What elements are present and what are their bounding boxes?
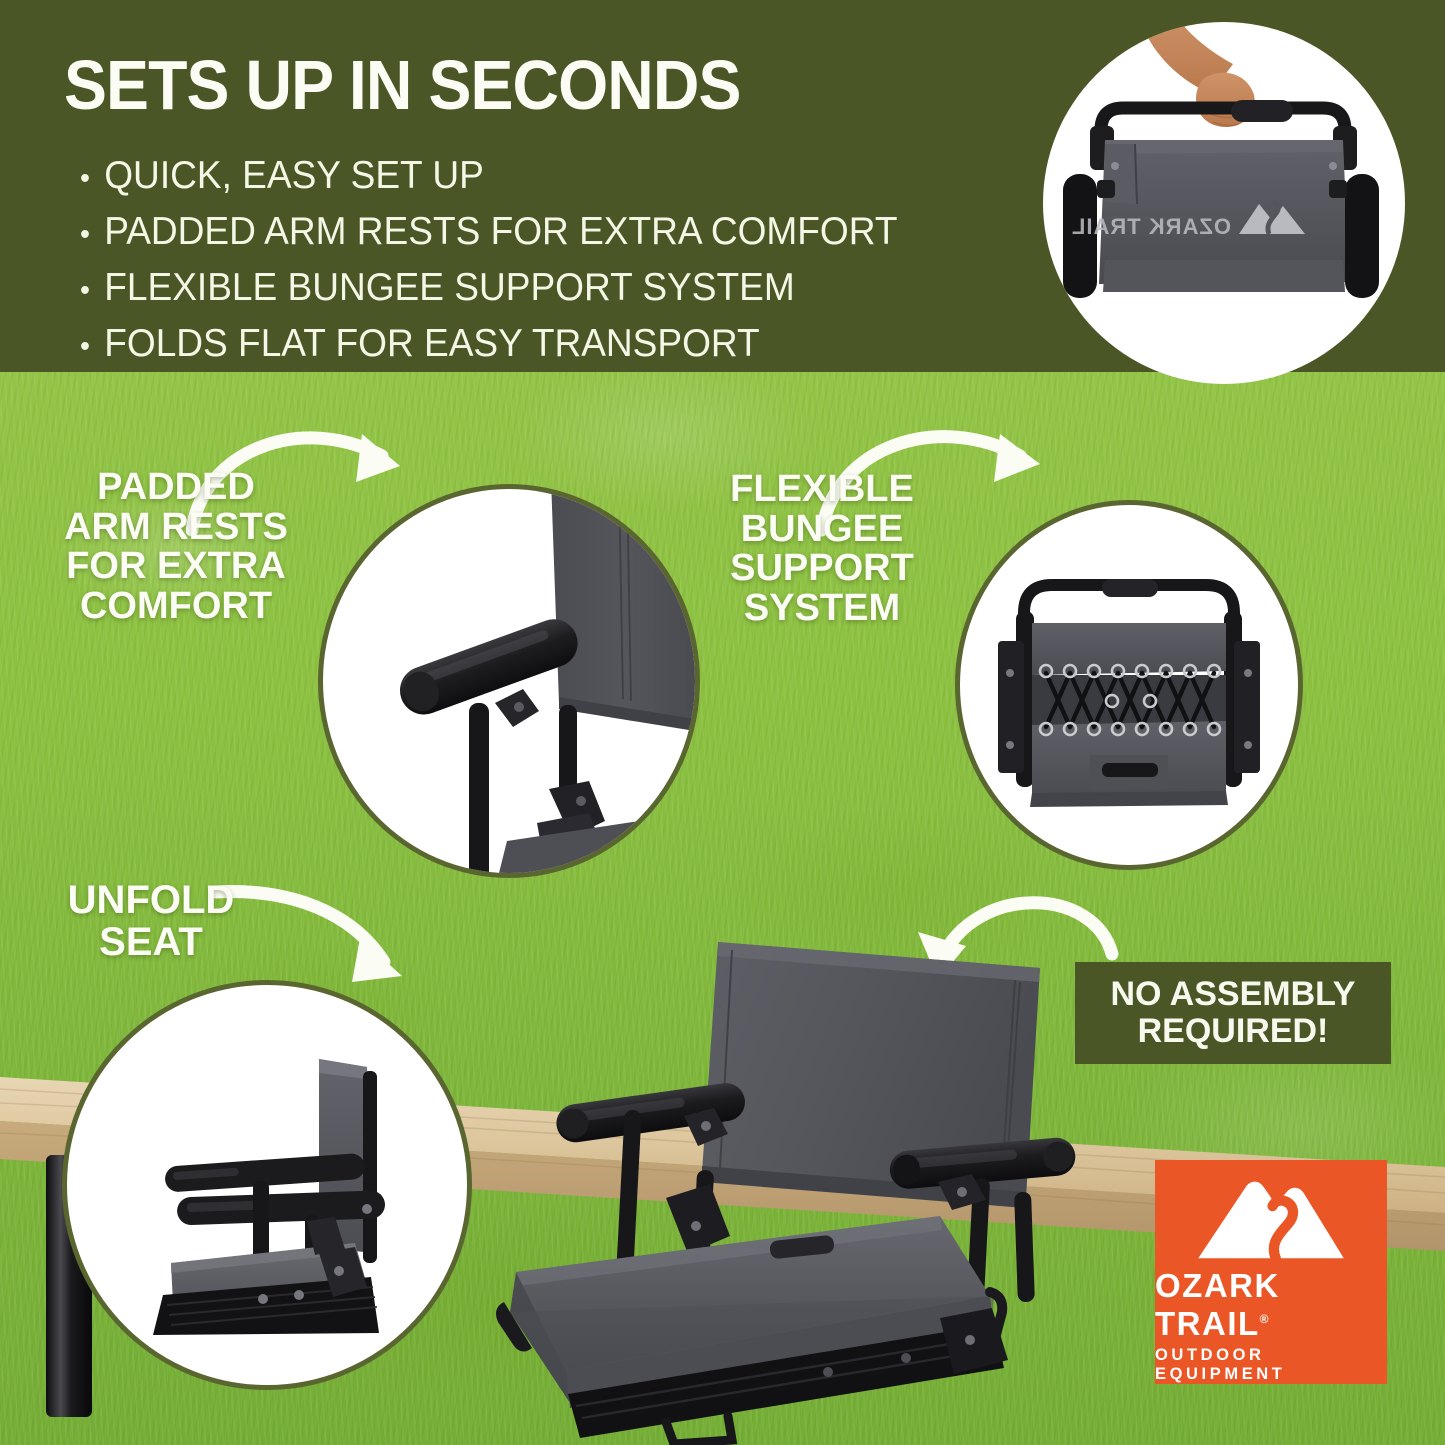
- bullet-item-1: • PADDED ARM RESTS FOR EXTRA COMFORT: [80, 212, 897, 251]
- bullet-dot-icon: •: [80, 276, 90, 306]
- bullet-text-0: QUICK, EASY SET UP: [104, 156, 484, 195]
- badge-line-2: REQUIRED!: [1138, 1013, 1329, 1050]
- product-feature-infographic: SETS UP IN SECONDS • QUICK, EASY SET UP …: [0, 0, 1445, 1445]
- callout-line: SUPPORT: [706, 549, 938, 589]
- bungee-illustration: [960, 505, 1298, 865]
- bullet-text-1: PADDED ARM RESTS FOR EXTRA COMFORT: [104, 212, 897, 251]
- unfold-detail-circle: [62, 980, 472, 1390]
- callout-flexible-bungee: FLEXIBLE BUNGEE SUPPORT SYSTEM: [706, 470, 938, 628]
- bullet-item-3: • FOLDS FLAT FOR EASY TRANSPORT: [80, 324, 897, 363]
- armrest-detail-circle: [318, 484, 700, 878]
- callout-line: PADDED: [42, 468, 310, 508]
- callout-padded-arm-rests: PADDED ARM RESTS FOR EXTRA COMFORT: [42, 468, 310, 626]
- callout-line: ARM RESTS: [42, 508, 310, 548]
- no-assembly-badge: NO ASSEMBLY REQUIRED!: [1075, 962, 1391, 1064]
- callout-unfold-seat: UNFOLD SEAT: [44, 880, 258, 963]
- bullet-dot-icon: •: [80, 220, 90, 250]
- registered-mark: ®: [1260, 1312, 1270, 1326]
- callout-line: SEAT: [44, 922, 258, 964]
- logo-brand-text: OZARK TRAIL®: [1155, 1267, 1387, 1343]
- bullet-dot-icon: •: [80, 164, 90, 194]
- carry-photo-circle: OZARK TRAIL: [1043, 22, 1405, 384]
- callout-line: BUNGEE: [706, 510, 938, 550]
- badge-line-1: NO ASSEMBLY: [1111, 976, 1356, 1013]
- callout-line: FOR EXTRA: [42, 547, 310, 587]
- bullet-item-2: • FLEXIBLE BUNGEE SUPPORT SYSTEM: [80, 268, 897, 307]
- armrest-illustration: [323, 489, 695, 873]
- bullet-dot-icon: •: [80, 332, 90, 362]
- bullet-text-2: FLEXIBLE BUNGEE SUPPORT SYSTEM: [104, 268, 794, 307]
- callout-line: SYSTEM: [706, 589, 938, 629]
- callout-line: COMFORT: [42, 587, 310, 627]
- callout-line: FLEXIBLE: [706, 470, 938, 510]
- svg-text:OZARK TRAIL: OZARK TRAIL: [1071, 214, 1231, 239]
- logo-tagline: OUTDOOR EQUIPMENT: [1155, 1346, 1387, 1384]
- logo-brand-label: OZARK TRAIL: [1155, 1267, 1280, 1342]
- bungee-detail-circle: [955, 500, 1303, 870]
- callout-line: UNFOLD: [44, 880, 258, 922]
- bullet-item-0: • QUICK, EASY SET UP: [80, 156, 897, 195]
- bullet-text-3: FOLDS FLAT FOR EASY TRANSPORT: [104, 324, 759, 363]
- feature-bullet-list: • QUICK, EASY SET UP • PADDED ARM RESTS …: [80, 156, 941, 380]
- hero-stadium-chair: [470, 920, 1090, 1445]
- unfold-illustration: [67, 985, 467, 1385]
- page-title: SETS UP IN SECONDS: [64, 50, 741, 120]
- ozark-trail-logo: OZARK TRAIL® OUTDOOR EQUIPMENT: [1155, 1160, 1387, 1384]
- mountain-trail-icon: [1173, 1176, 1369, 1263]
- carry-illustration: OZARK TRAIL: [1043, 22, 1405, 384]
